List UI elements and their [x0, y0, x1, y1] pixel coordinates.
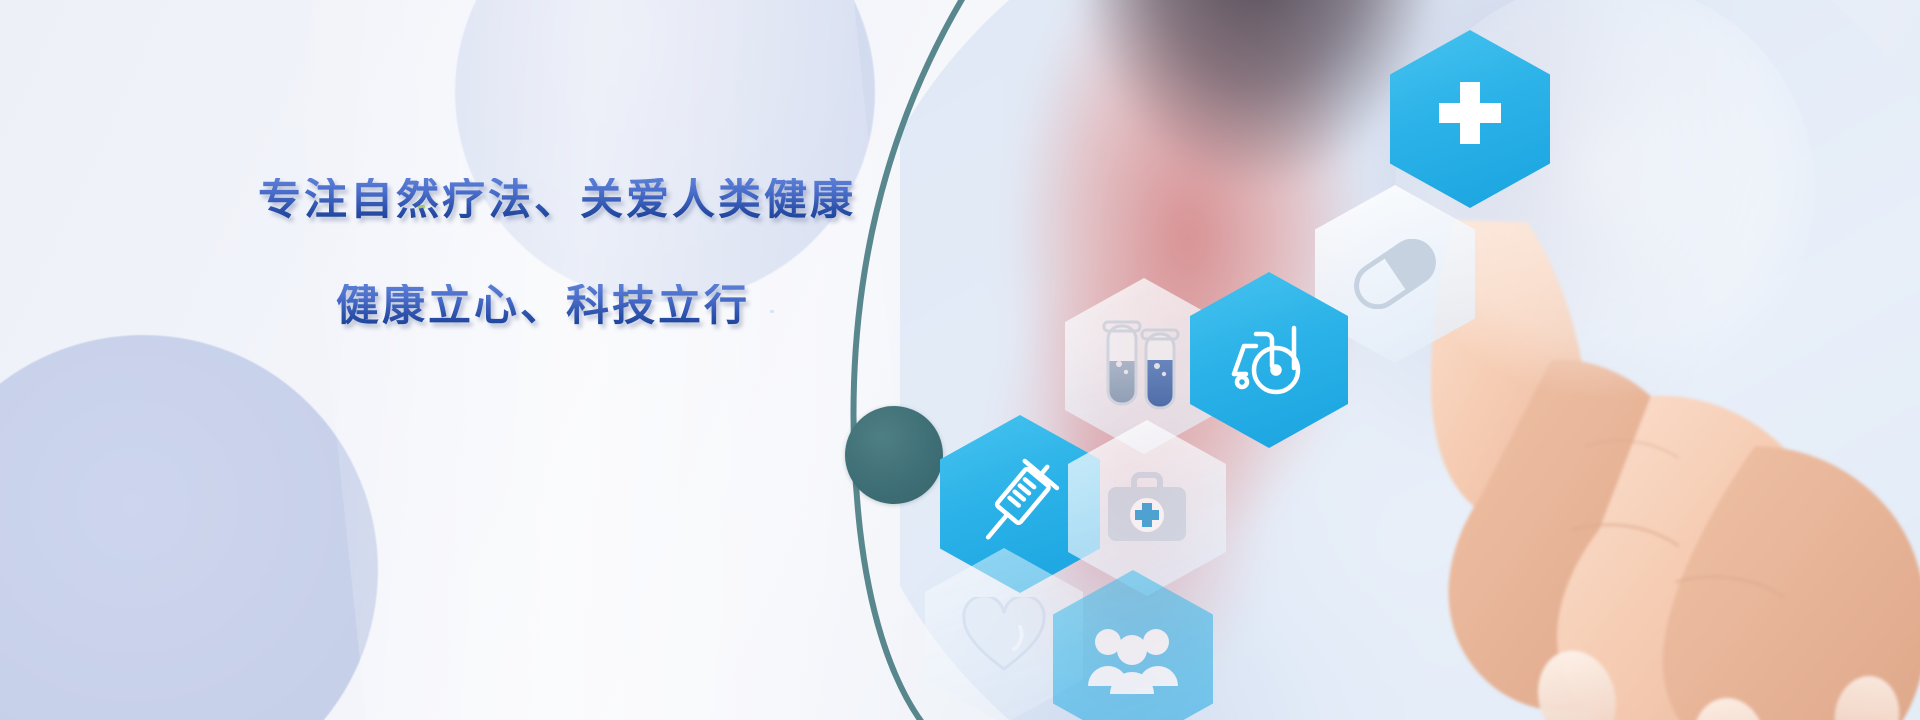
test-tube-icon: [1102, 320, 1186, 412]
hexagon-icon-cluster: [905, 0, 1920, 720]
people-group-icon: [1086, 624, 1180, 694]
headline-block: 专注自然疗法、关爱人类健康 健康立心、科技立行: [258, 178, 878, 329]
pill-icon: [1347, 239, 1443, 309]
heart-icon: [960, 597, 1048, 675]
medical-bag-icon: [1104, 471, 1190, 545]
wheelchair-icon: [1228, 320, 1310, 400]
bottom-decorative-circle: [0, 335, 378, 720]
headline-line-2: 健康立心、科技立行: [336, 284, 878, 329]
hex-medical-bag[interactable]: [1068, 420, 1226, 596]
health-banner: 专注自然疗法、关爱人类健康 健康立心、科技立行: [0, 0, 1920, 720]
hex-medical-cross[interactable]: [1390, 30, 1550, 208]
cross-icon: [1427, 76, 1513, 162]
syringe-icon: [972, 456, 1068, 552]
headline-line-1: 专注自然疗法、关爱人类健康: [258, 178, 878, 223]
